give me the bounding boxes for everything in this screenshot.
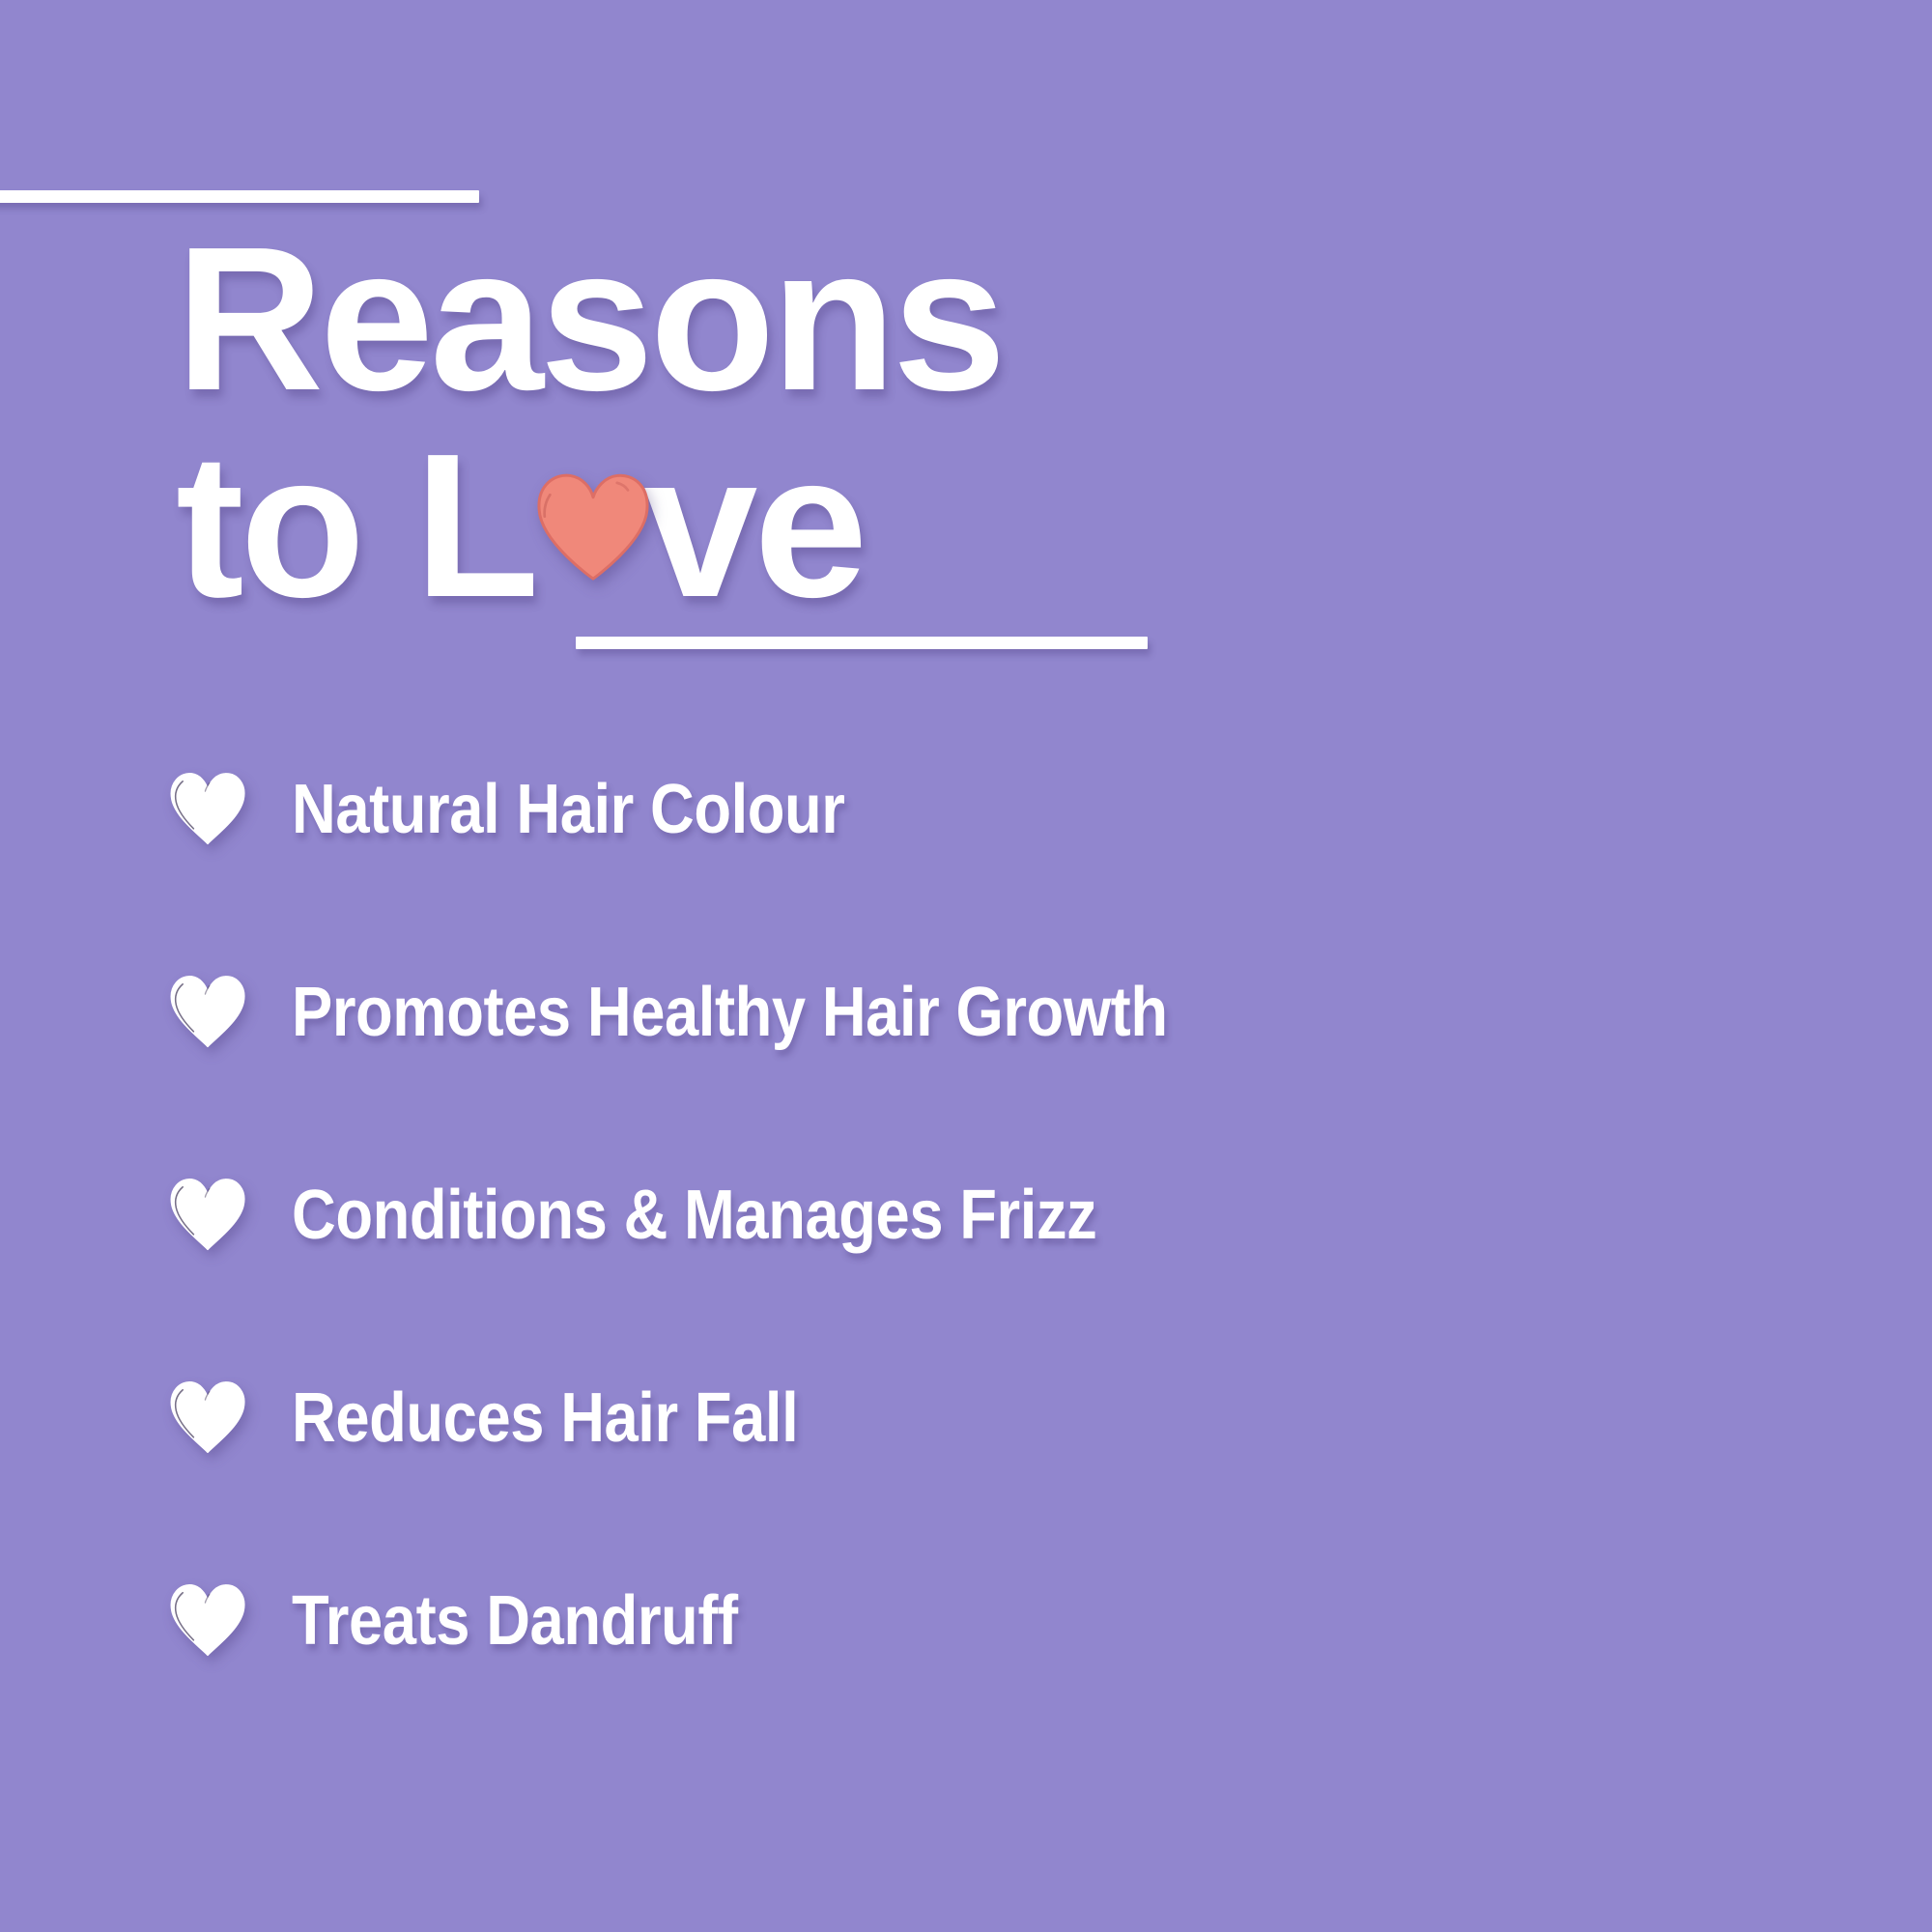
heart-bullet-icon xyxy=(166,971,249,1054)
page-title-line-1: Reasons xyxy=(176,216,1528,421)
poster-canvas: Reasons to L ve Natural Hair Colour xyxy=(0,0,1932,1932)
page-title-line-2-suffix: ve xyxy=(644,411,865,639)
heart-icon xyxy=(536,451,644,596)
page-title-line-2-prefix: to L xyxy=(176,411,536,639)
list-item: Reduces Hair Fall xyxy=(166,1372,867,1464)
list-item: Natural Hair Colour xyxy=(166,763,921,856)
heading-top-divider xyxy=(0,190,479,203)
heart-bullet-icon xyxy=(166,768,249,851)
heart-bullet-icon xyxy=(166,1579,249,1662)
list-item: Treats Dandruff xyxy=(166,1575,799,1667)
page-title: Reasons to L ve xyxy=(176,216,1528,628)
heart-bullet-icon xyxy=(166,1377,249,1460)
list-item-label: Conditions & Manages Frizz xyxy=(292,1180,1096,1250)
list-item-label: Treats Dandruff xyxy=(292,1586,738,1656)
list-item-label: Reduces Hair Fall xyxy=(292,1383,798,1453)
list-item: Promotes Healthy Hair Growth xyxy=(166,966,1287,1059)
list-item: Conditions & Manages Frizz xyxy=(166,1169,1207,1262)
heading-bottom-divider xyxy=(576,637,1148,649)
list-item-label: Promotes Healthy Hair Growth xyxy=(292,978,1168,1047)
heart-bullet-icon xyxy=(166,1174,249,1257)
list-item-label: Natural Hair Colour xyxy=(292,775,845,844)
page-title-line-2: to L ve xyxy=(176,423,1528,628)
